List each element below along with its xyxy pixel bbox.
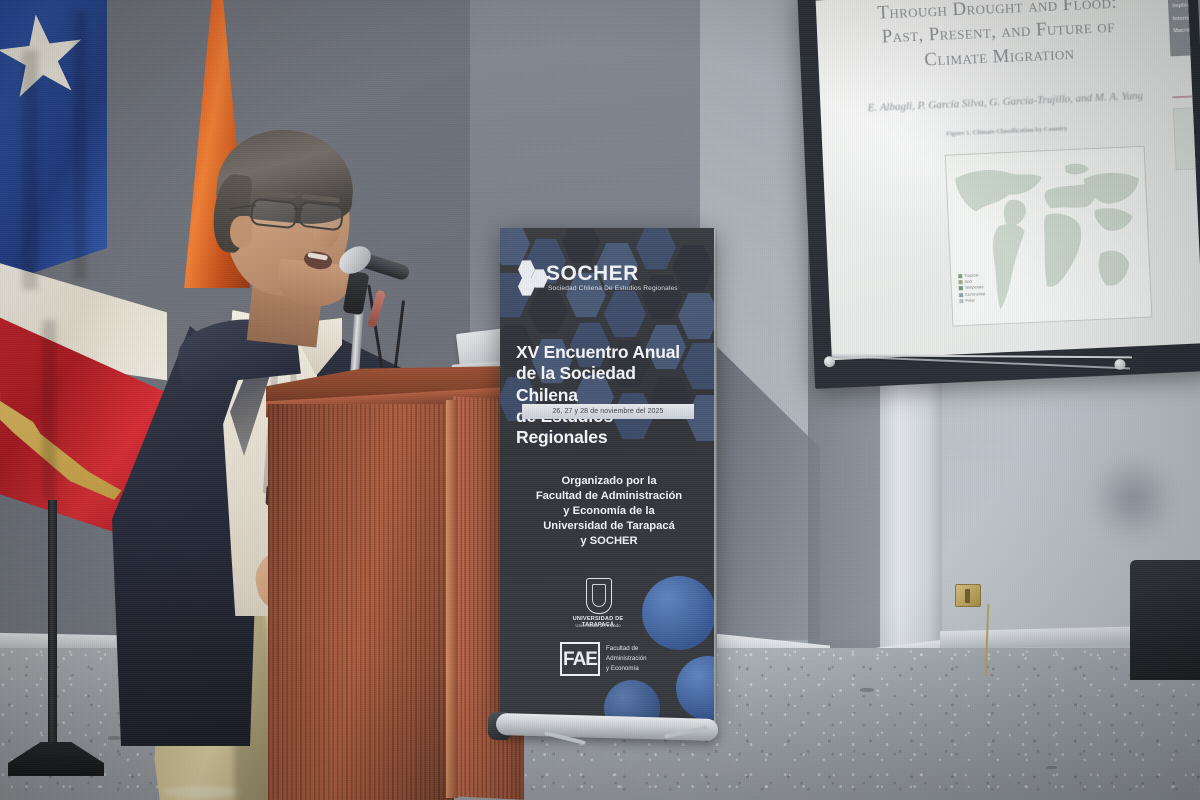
fae-line-3: y Economía bbox=[606, 664, 680, 674]
socher-logo: SOCHER Sociedad Chilena De Estudios Regi… bbox=[518, 260, 696, 296]
floor-debris bbox=[1046, 766, 1057, 769]
organizer-line-5: y SOCHER bbox=[514, 534, 704, 549]
slide-title: Through Drought and Flood: Past, Present… bbox=[832, 0, 1165, 77]
banner-circle-accent-3 bbox=[604, 680, 660, 720]
legend-item: Polar bbox=[959, 297, 986, 304]
organizer-line-4: Universidad de Tarapacá bbox=[514, 519, 704, 534]
university-tagline: Universidad del Estado bbox=[558, 623, 638, 628]
projection-screen: Through Drought and Flood: Past, Present… bbox=[797, 0, 1200, 389]
banner-title-line-1: XV Encuentro Anual bbox=[516, 342, 702, 363]
socher-subtitle: Sociedad Chilena De Estudios Regionales bbox=[548, 285, 678, 292]
banner-organizer-block: Organizado por la Facultad de Administra… bbox=[514, 474, 704, 550]
fae-abbreviation: FAE bbox=[560, 642, 600, 676]
organizer-line-3: y Economía de la bbox=[514, 504, 704, 519]
floor-debris bbox=[860, 688, 874, 692]
rollup-banner: SOCHER Sociedad Chilena De Estudios Regi… bbox=[500, 228, 714, 720]
shield-icon bbox=[586, 578, 612, 614]
banner-title-line-2: de la Sociedad Chilena bbox=[516, 363, 702, 406]
fae-line-1: Facultad de bbox=[606, 644, 680, 654]
banner-event-title: XV Encuentro Anual de la Sociedad Chilen… bbox=[516, 342, 702, 449]
eyeglasses-lens-left bbox=[250, 198, 299, 230]
speaker-ear bbox=[230, 216, 252, 248]
conference-photo-scene: Through Drought and Flood: Past, Present… bbox=[0, 0, 1200, 800]
wall-outlet-plate[interactable] bbox=[955, 584, 981, 607]
projected-slide: Through Drought and Flood: Past, Present… bbox=[816, 0, 1200, 360]
wall-smudge bbox=[1090, 455, 1176, 541]
fae-logo: FAE Facultad de Administración y Economí… bbox=[560, 642, 678, 678]
lectern-corner-highlight bbox=[446, 400, 458, 798]
lectern-front-panel bbox=[268, 404, 454, 800]
socher-wordmark: SOCHER bbox=[546, 262, 639, 286]
banner-event-date: 26, 27 y 28 de noviembre del 2025 bbox=[522, 404, 694, 419]
eyeglasses-lens-right bbox=[298, 200, 345, 231]
banner-circle-accent-1 bbox=[642, 576, 714, 650]
slide-world-map: Tropical Arid Temperate Continental Pola… bbox=[945, 146, 1153, 327]
fae-full-name: Facultad de Administración y Economía bbox=[606, 644, 680, 674]
organizer-line-2: Facultad de Administración bbox=[514, 489, 704, 504]
map-legend: Tropical Arid Temperate Continental Pola… bbox=[958, 272, 986, 304]
chair-right-edge[interactable] bbox=[1130, 560, 1200, 680]
universidad-tarapaca-logo: UNIVERSIDAD DE TARAPACÁ Universidad del … bbox=[574, 578, 622, 628]
organizer-line-1: Organizado por la bbox=[514, 474, 704, 489]
fae-line-2: Administración bbox=[606, 654, 680, 664]
flag-pole bbox=[48, 500, 57, 750]
banner-circle-accent-2 bbox=[676, 656, 714, 720]
